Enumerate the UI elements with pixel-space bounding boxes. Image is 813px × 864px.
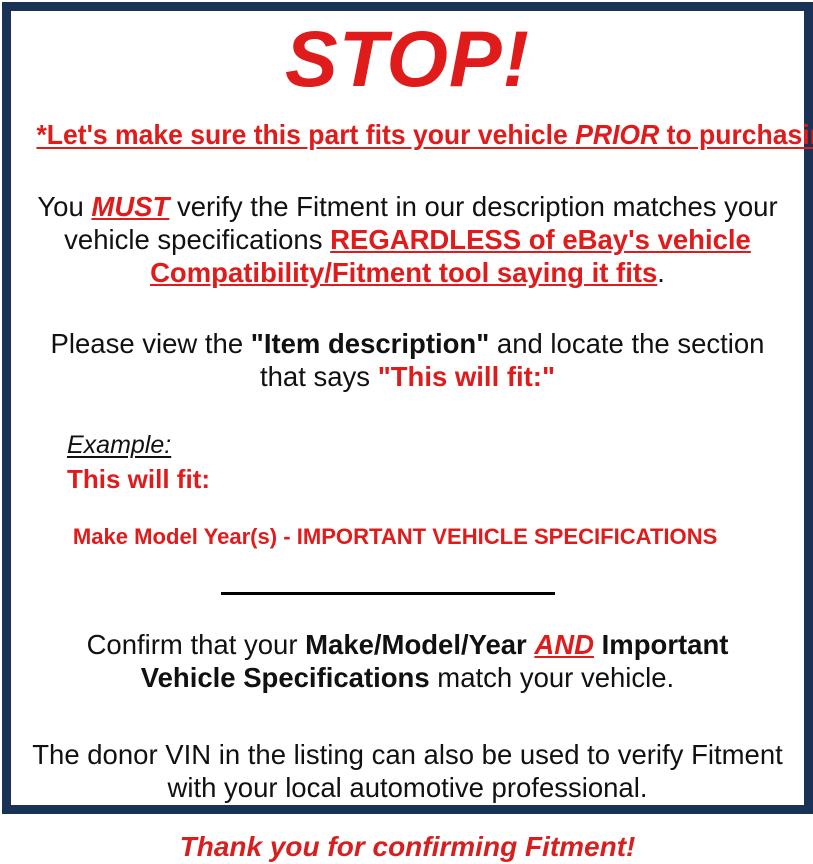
- this-will-fit-emphasis: "This will fit:": [378, 361, 555, 392]
- horizontal-divider: [221, 592, 555, 595]
- confirm-paragraph-lead: Confirm that your: [87, 629, 306, 660]
- must-paragraph-tail: .: [657, 257, 665, 288]
- confirm-paragraph-tail: match your vehicle.: [430, 662, 675, 693]
- subtitle-line: *Let's make sure this part fits your veh…: [36, 98, 778, 150]
- view-description-paragraph: Please view the "Item description" and l…: [28, 289, 788, 393]
- thank-you-line: Thank you for confirming Fitment!: [23, 804, 792, 864]
- example-label-row: Example:: [67, 431, 792, 460]
- notice-bordered-panel: STOP! *Let's make sure this part fits yo…: [2, 2, 813, 814]
- subtitle-text-leading: *Let's make sure this part fits your veh…: [36, 119, 575, 150]
- must-emphasis: MUST: [91, 191, 169, 222]
- example-fit-header: This will fit:: [67, 460, 792, 497]
- must-paragraph-lead: You: [37, 191, 91, 222]
- subtitle-emphasis-prior: PRIOR: [575, 119, 659, 150]
- divider-wrap: [23, 550, 792, 600]
- example-spec-line: Make Model Year(s) - IMPORTANT VEHICLE S…: [67, 497, 778, 550]
- stop-heading: STOP!: [23, 11, 792, 98]
- must-verify-paragraph: You MUST verify the Fitment in our descr…: [32, 150, 784, 289]
- confirm-paragraph: Confirm that your Make/Model/Year AND Im…: [37, 600, 779, 694]
- example-label: Example:: [67, 431, 171, 460]
- view-paragraph-lead: Please view the: [51, 328, 251, 359]
- example-block: Example: This will fit: Make Model Year(…: [23, 393, 792, 550]
- make-model-year-emphasis: Make/Model/Year: [305, 629, 527, 660]
- donor-vin-paragraph: The donor VIN in the listing can also be…: [28, 694, 788, 804]
- subtitle-text-trailing: to purchasing*: [659, 119, 813, 150]
- item-description-emphasis: "Item description": [251, 328, 489, 359]
- and-emphasis: AND: [534, 629, 594, 660]
- fitment-notice-banner: STOP! *Let's make sure this part fits yo…: [0, 0, 813, 814]
